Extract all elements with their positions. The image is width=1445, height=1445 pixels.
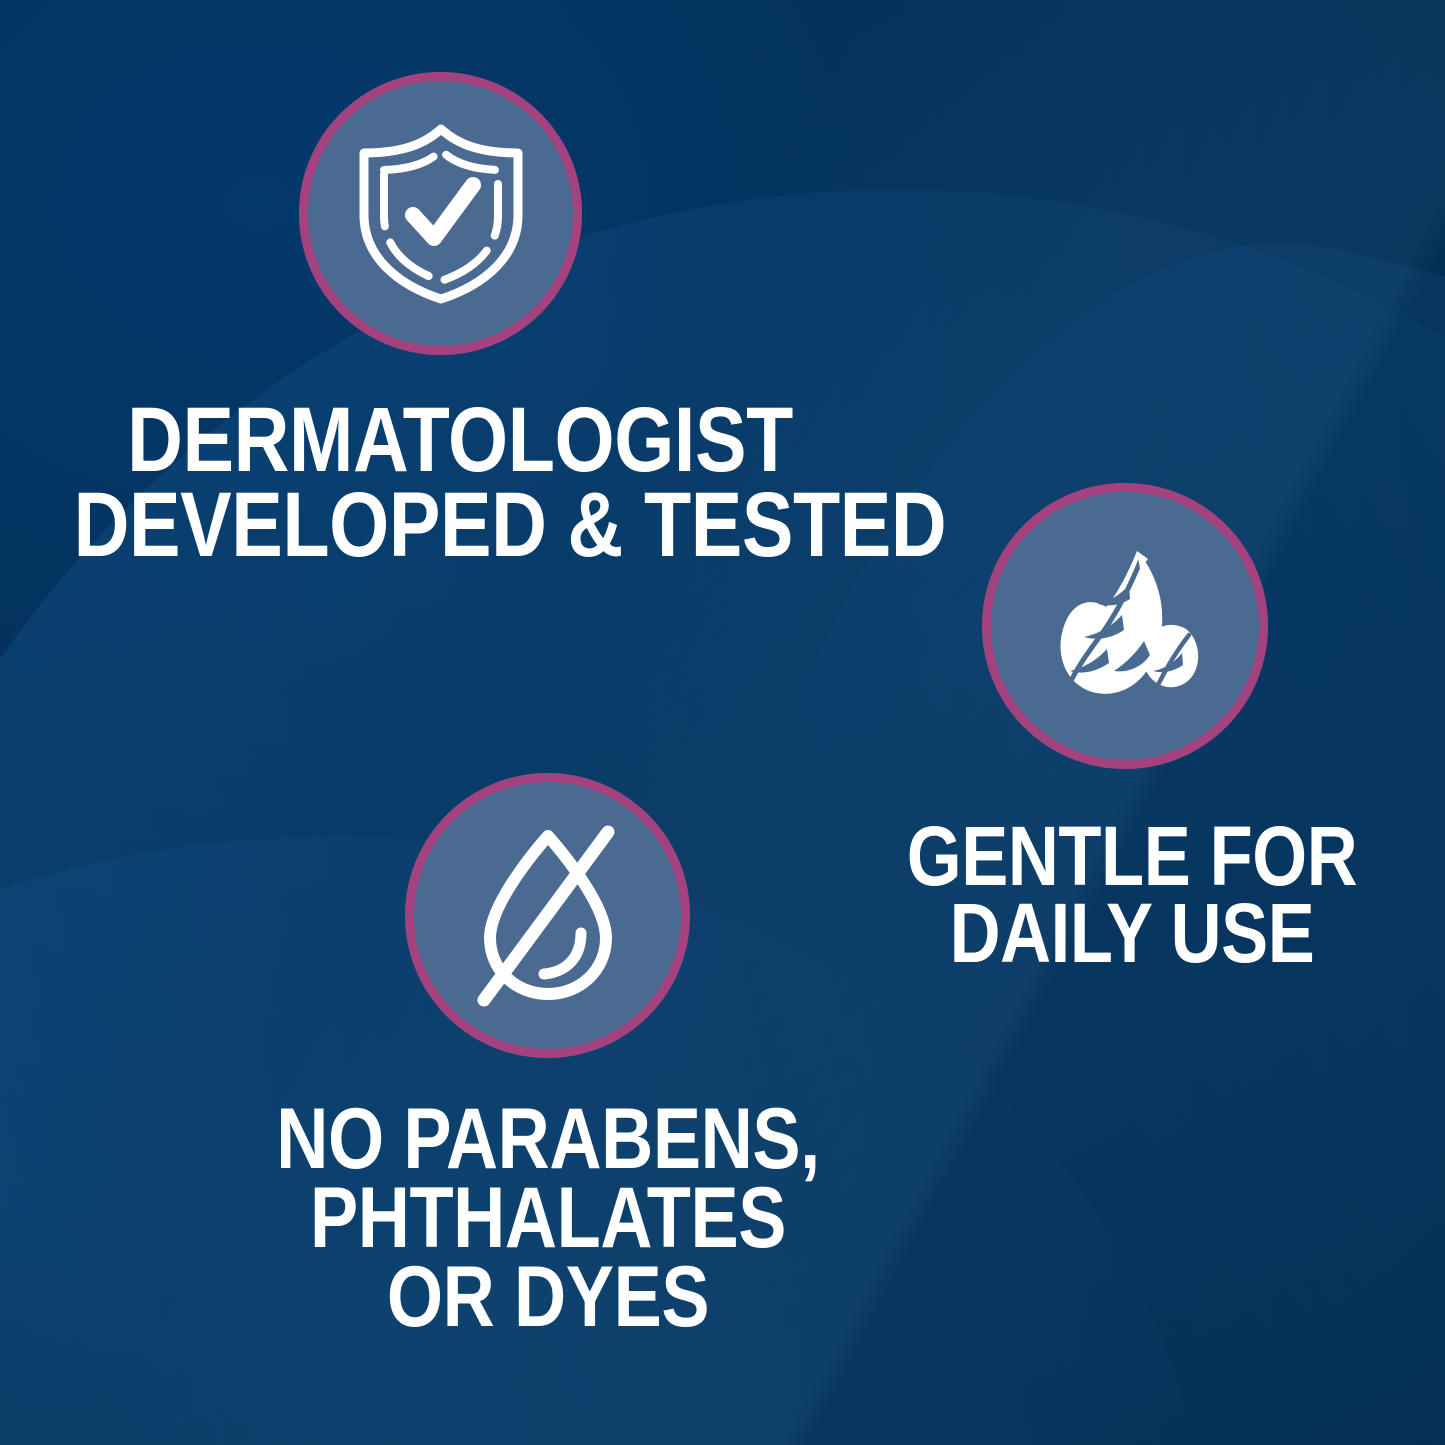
benefit-line: PHTHALATES [212, 1179, 884, 1258]
badge-gentle [982, 483, 1268, 769]
benefit-label-dermatologist: DERMATOLOGIST DEVELOPED & TESTED [74, 398, 847, 567]
benefit-line: OR DYES [212, 1258, 884, 1337]
no-droplet-icon [458, 822, 638, 1010]
benefit-line: DAILY USE [905, 895, 1359, 972]
shield-check-icon [356, 123, 526, 305]
benefit-line: NO PARABENS, [212, 1100, 884, 1179]
benefits-graphic: DERMATOLOGIST DEVELOPED & TESTED GENTLE … [0, 0, 1445, 1445]
badge-dermatologist [299, 72, 582, 355]
benefit-line: DERMATOLOGIST [74, 398, 847, 483]
benefit-label-no-parabens: NO PARABENS, PHTHALATES OR DYES [212, 1100, 884, 1337]
benefit-line: DEVELOPED & TESTED [74, 483, 847, 568]
benefit-line: GENTLE FOR [905, 818, 1359, 895]
badge-no-parabens [405, 773, 690, 1058]
feather-icon [1036, 537, 1214, 715]
benefit-label-gentle: GENTLE FOR DAILY USE [905, 818, 1359, 973]
